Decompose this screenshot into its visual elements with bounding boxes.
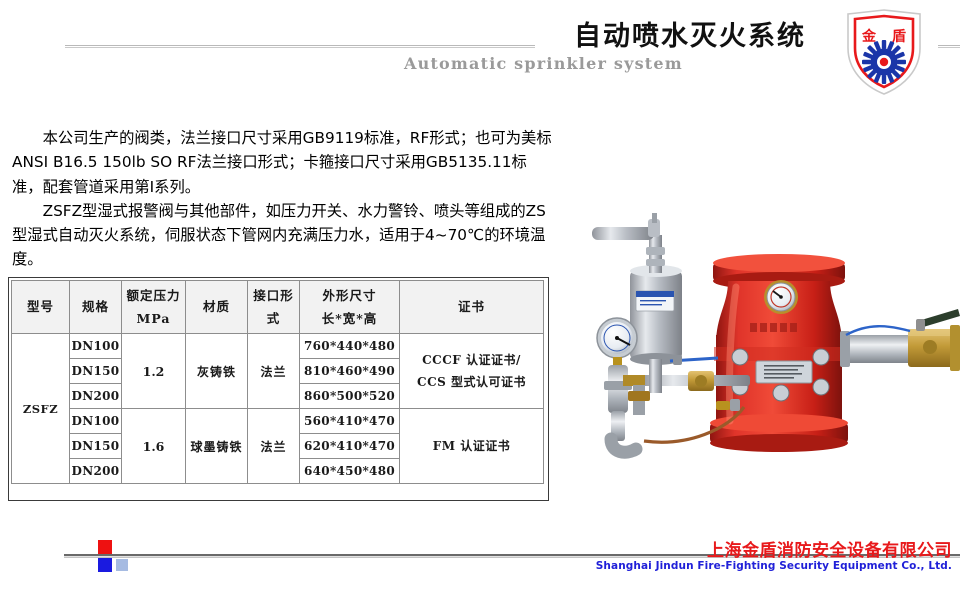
paragraph-valve-standards: 本公司生产的阀类，法兰接口尺寸采用GB9119标准，RF形式；也可为美标ANSI… <box>12 126 557 199</box>
cell-dimension: 860*500*520 <box>300 384 400 409</box>
paragraph-system-description: ZSFZ型湿式报警阀与其他部件，如压力开关、水力警铃、喷头等组成的ZS型湿式自动… <box>12 199 557 272</box>
table-row: DN100 1.6 球墨铸铁 法兰 560*410*470 FM 认证证书 <box>12 409 544 434</box>
cell-material: 球墨铸铁 <box>186 409 248 484</box>
col-header-spec: 规格 <box>70 281 122 334</box>
cell-dimension: 810*460*490 <box>300 359 400 384</box>
cell-pressure: 1.6 <box>122 409 186 484</box>
cell-interface: 法兰 <box>248 409 300 484</box>
cell-spec: DN100 <box>70 334 122 359</box>
cell-dimension: 760*440*480 <box>300 334 400 359</box>
col-header-pressure: 额定压力 MPa <box>122 281 186 334</box>
col-header-material: 材质 <box>186 281 248 334</box>
cell-dimension: 560*410*470 <box>300 409 400 434</box>
cell-certificate: CCCF 认证证书/ CCS 型式认可证书 <box>400 334 544 409</box>
col-header-dimension: 外形尺寸 长*宽*高 <box>300 281 400 334</box>
cell-dimension: 640*450*480 <box>300 459 400 484</box>
decor-square-blue <box>98 558 112 572</box>
cell-spec: DN200 <box>70 384 122 409</box>
col-header-interface: 接口形 式 <box>248 281 300 334</box>
jindun-shield-logo: 金 盾 <box>838 8 930 96</box>
specification-table: 型号 规格 额定压力 MPa 材质 接口形 式 外形尺寸 长*宽*高 <box>11 280 544 484</box>
page-title-chinese: 自动喷水灭火系统 <box>560 14 820 53</box>
col-header-dimension-line1: 外形尺寸 <box>300 287 399 305</box>
col-header-dimension-line2: 长*宽*高 <box>300 310 399 328</box>
certificate-line1: CCCF 认证证书/ <box>400 349 543 371</box>
col-header-interface-line1: 接口形 <box>248 287 299 305</box>
table-row: ZSFZ DN100 1.2 灰铸铁 法兰 760*440*480 CCCF 认… <box>12 334 544 359</box>
certificate-line1: FM 认证证书 <box>400 435 543 457</box>
cell-material: 灰铸铁 <box>186 334 248 409</box>
cell-dimension: 620*410*470 <box>300 434 400 459</box>
svg-text:盾: 盾 <box>892 28 906 45</box>
cell-spec: DN150 <box>70 434 122 459</box>
cell-pressure: 1.2 <box>122 334 186 409</box>
certificate-line2: CCS 型式认可证书 <box>400 371 543 393</box>
page-title-english: Automatic sprinkler system <box>404 54 683 73</box>
decor-square-light-blue <box>116 559 128 571</box>
col-header-pressure-line1: 额定压力 <box>122 287 185 305</box>
table-header-row: 型号 规格 额定压力 MPa 材质 接口形 式 外形尺寸 长*宽*高 <box>12 281 544 334</box>
cell-spec: DN100 <box>70 409 122 434</box>
col-header-certificate: 证书 <box>400 281 544 334</box>
footer-company-name-chinese: 上海金盾消防安全设备有限公司 <box>707 536 952 561</box>
col-header-interface-line2: 式 <box>248 310 299 328</box>
wet-alarm-valve-assembly-photo <box>578 195 960 525</box>
footer-company-name-english: Shanghai Jindun Fire-Fighting Security E… <box>596 560 952 572</box>
page-header: 自动喷水灭火系统 Automatic sprinkler system 金 盾 <box>0 0 960 100</box>
cell-model: ZSFZ <box>12 334 70 484</box>
body-copy: 本公司生产的阀类，法兰接口尺寸采用GB9119标准，RF形式；也可为美标ANSI… <box>12 126 557 272</box>
decor-square-red <box>98 540 112 554</box>
cell-spec: DN200 <box>70 459 122 484</box>
cell-certificate: FM 认证证书 <box>400 409 544 484</box>
cell-interface: 法兰 <box>248 334 300 409</box>
col-header-model: 型号 <box>12 281 70 334</box>
col-header-pressure-line2: MPa <box>122 310 185 328</box>
cell-spec: DN150 <box>70 359 122 384</box>
